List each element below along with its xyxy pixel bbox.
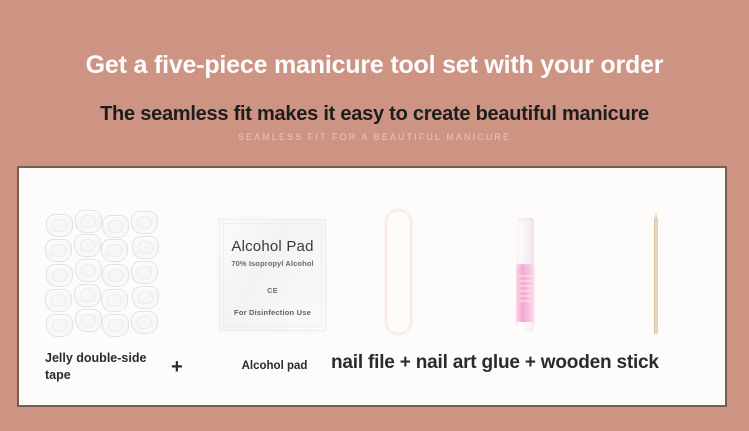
tape-tab	[74, 284, 101, 307]
tape-column	[74, 210, 101, 338]
tape-tab	[45, 289, 72, 312]
tape-column	[131, 210, 158, 338]
tape-tab	[75, 259, 102, 282]
caption-jelly-tape: Jelly double-side tape	[45, 350, 165, 384]
nail-file-edge	[389, 214, 408, 330]
caption-remaining-tools: nail file + nail art glue + wooden stick	[331, 352, 659, 374]
wooden-stick-image	[652, 212, 660, 334]
tape-tab	[75, 210, 102, 233]
subheadline: The seamless fit makes it easy to create…	[0, 103, 749, 126]
nail-art-glue-image	[516, 218, 535, 333]
promo-banner: Get a five-piece manicure tool set with …	[0, 0, 749, 431]
glue-base	[517, 322, 534, 332]
tape-tab	[131, 211, 158, 234]
tape-tab	[74, 234, 101, 257]
ce-mark: CE	[220, 288, 325, 295]
tape-tab	[45, 239, 72, 262]
tape-tab	[131, 261, 158, 284]
tape-tab	[132, 286, 159, 309]
nail-file-image	[387, 211, 410, 333]
glue-cap	[517, 218, 534, 266]
headline: Get a five-piece manicure tool set with …	[0, 51, 749, 80]
alcohol-pad-image: Alcohol Pad 70% Isopropyl Alcohol CE For…	[219, 219, 326, 331]
tape-tab	[75, 309, 102, 332]
glue-body	[516, 264, 535, 326]
product-image-row: Alcohol Pad 70% Isopropyl Alcohol CE For…	[19, 186, 725, 336]
alcohol-pad-title: Alcohol Pad	[220, 238, 325, 255]
tape-tab	[46, 264, 73, 287]
product-panel: Alcohol Pad 70% Isopropyl Alcohol CE For…	[17, 166, 727, 407]
tape-tab	[131, 311, 158, 334]
tape-tab	[102, 264, 129, 287]
product-caption-row: Jelly double-side tape + Alcohol pad nai…	[19, 344, 725, 399]
tape-tab	[101, 239, 128, 262]
tape-tab	[46, 214, 73, 237]
alcohol-pad-usage: For Disinfection Use	[220, 308, 325, 317]
wooden-stick-body	[654, 218, 658, 334]
caption-alcohol-pad: Alcohol pad	[217, 360, 332, 372]
plus-separator-icon: +	[171, 356, 183, 379]
jelly-tape-sheet-image	[45, 210, 163, 338]
tape-tab	[101, 289, 128, 312]
tape-tab	[46, 314, 73, 337]
tape-tab	[102, 314, 129, 337]
tape-tab	[132, 236, 159, 259]
micro-tagline: SEAMLESS FIT FOR A BEAUTIFUL MANICURE	[0, 132, 749, 142]
tape-column	[45, 210, 72, 338]
tape-column	[101, 210, 128, 338]
alcohol-pad-subtitle: 70% Isopropyl Alcohol	[220, 259, 325, 268]
tape-tab	[102, 215, 129, 238]
